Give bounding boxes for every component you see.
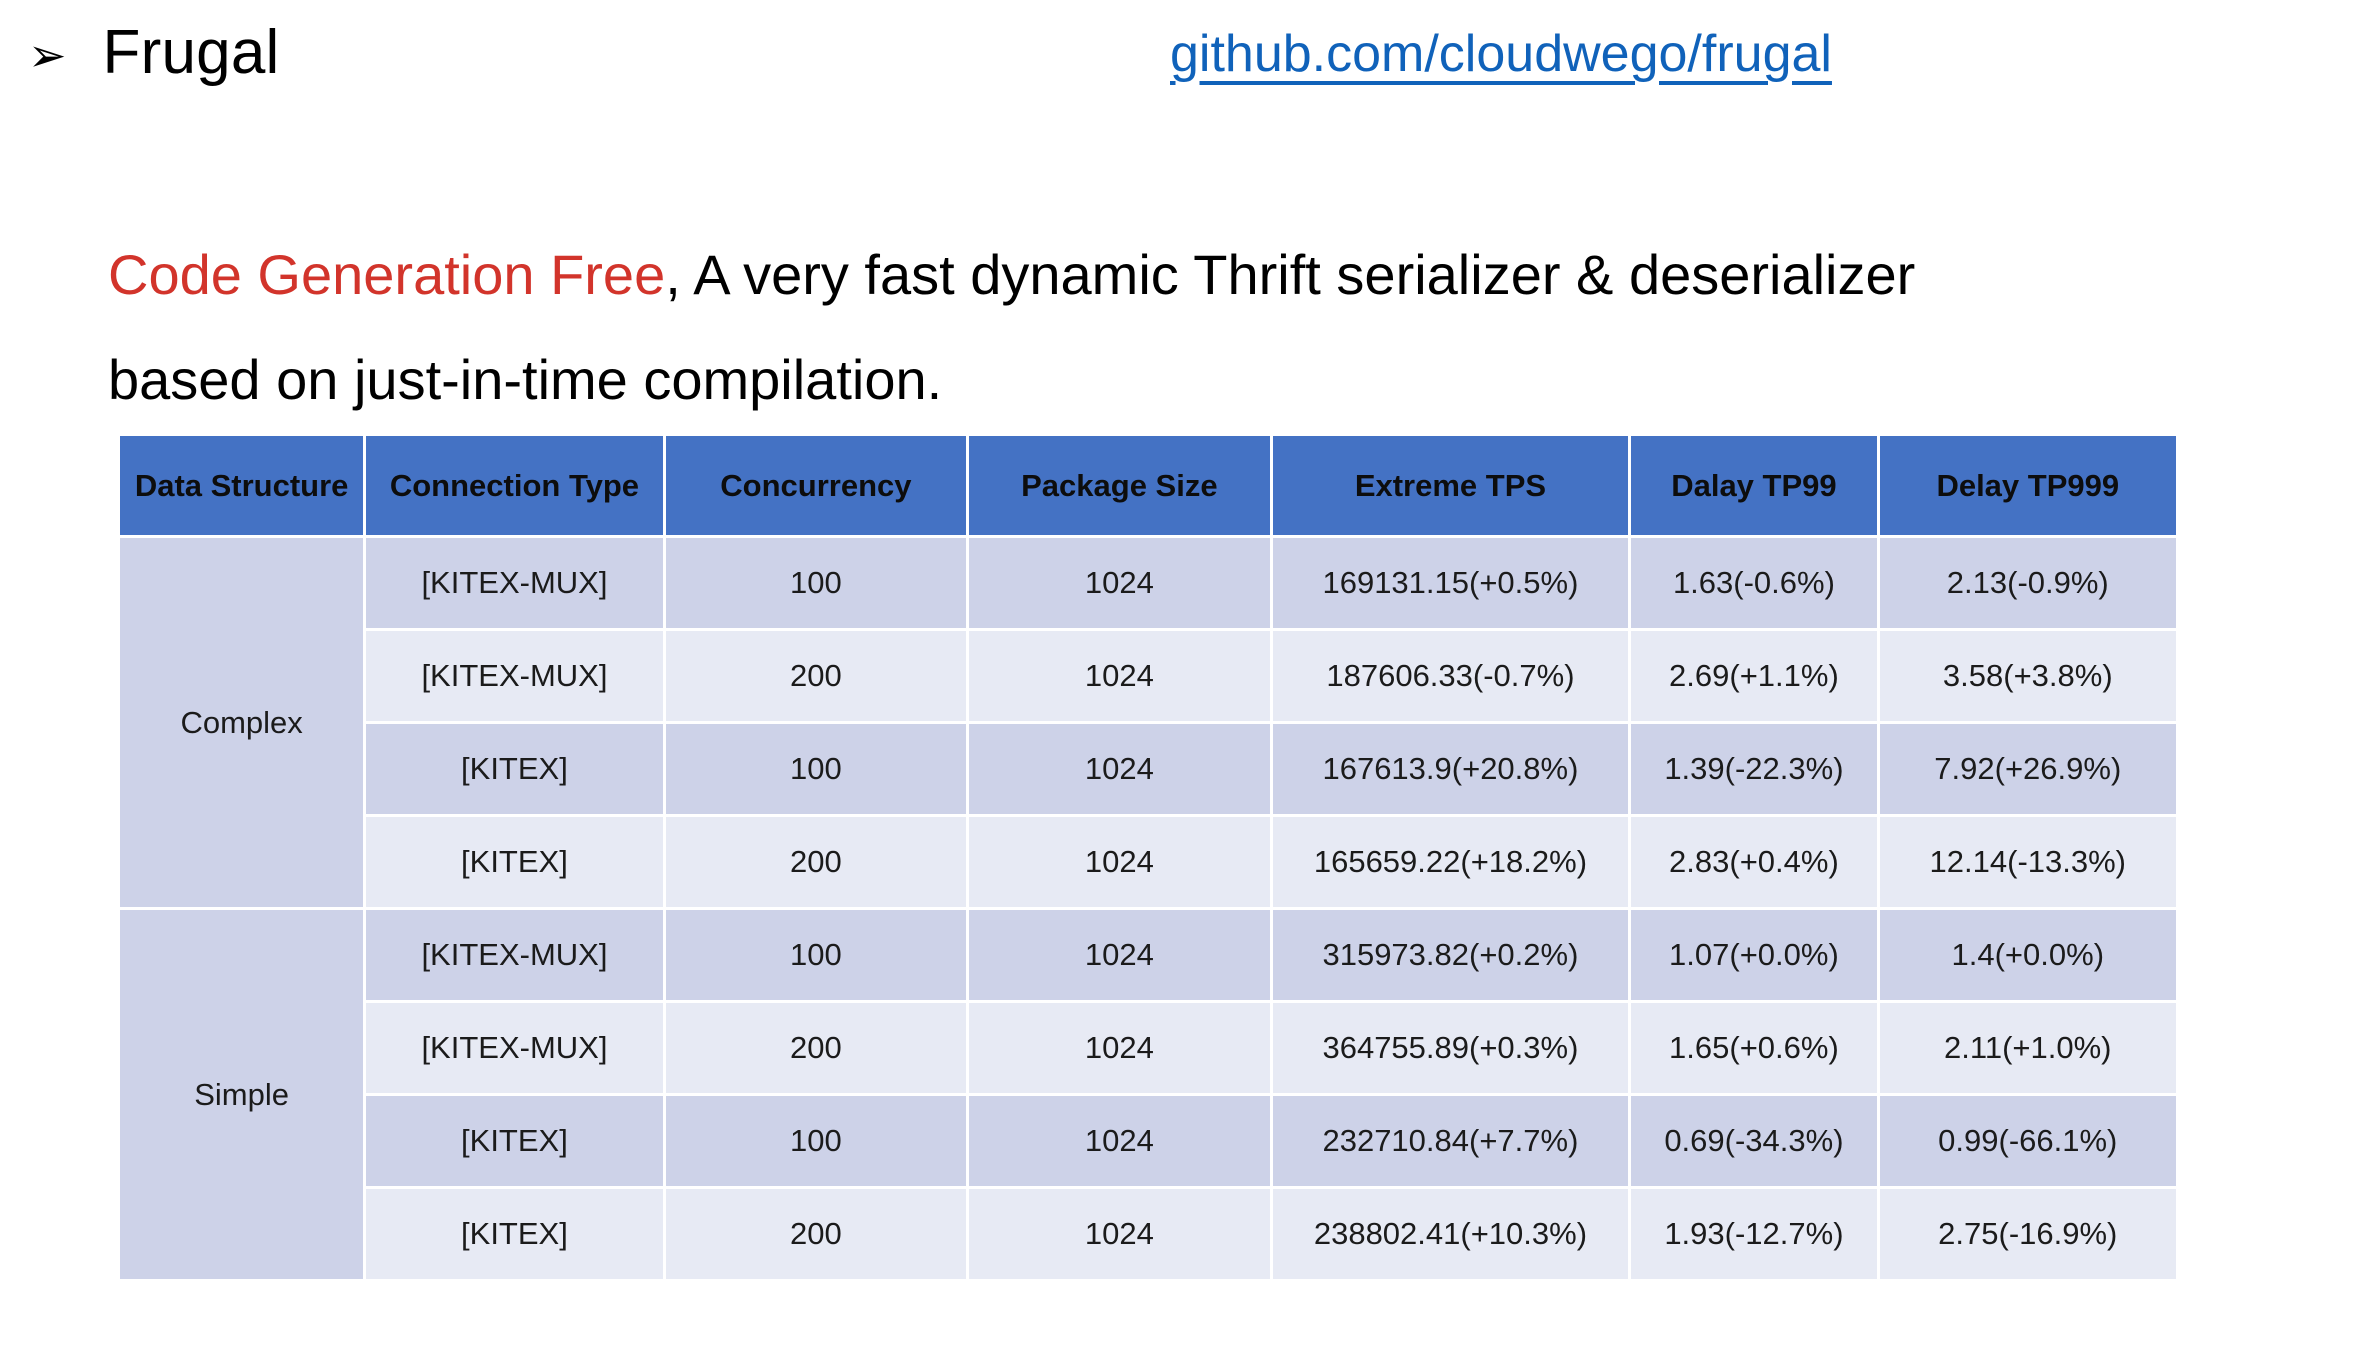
cell-delay-tp999: 3.58(+3.8%) [1880, 631, 2176, 721]
group-label-simple: Simple [120, 910, 363, 1279]
cell-delay-tp99: 1.63(-0.6%) [1631, 538, 1876, 628]
table-row: [KITEX] 100 1024 167613.9(+20.8%) 1.39(-… [120, 724, 2176, 814]
description-accent: Code Generation Free [108, 243, 665, 306]
table-row: Complex [KITEX-MUX] 100 1024 169131.15(+… [120, 538, 2176, 628]
table-row: [KITEX] 200 1024 165659.22(+18.2%) 2.83(… [120, 817, 2176, 907]
cell-package-size: 1024 [969, 538, 1269, 628]
cell-delay-tp999: 0.99(-66.1%) [1880, 1096, 2176, 1186]
slide-header: ➢ Frugal github.com/cloudwego/frugal [0, 0, 2360, 140]
cell-concurrency: 200 [666, 1189, 966, 1279]
cell-concurrency: 100 [666, 1096, 966, 1186]
cell-delay-tp99: 1.93(-12.7%) [1631, 1189, 1876, 1279]
cell-delay-tp99: 0.69(-34.3%) [1631, 1096, 1876, 1186]
table-row: [KITEX] 100 1024 232710.84(+7.7%) 0.69(-… [120, 1096, 2176, 1186]
cell-connection-type: [KITEX-MUX] [366, 631, 662, 721]
arrow-bullet-icon: ➢ [28, 32, 67, 78]
column-header-concurrency: Concurrency [666, 436, 966, 535]
column-header-data-structure: Data Structure [120, 436, 363, 535]
table-row: [KITEX-MUX] 200 1024 364755.89(+0.3%) 1.… [120, 1003, 2176, 1093]
repo-link[interactable]: github.com/cloudwego/frugal [1170, 28, 1832, 80]
table-row: [KITEX] 200 1024 238802.41(+10.3%) 1.93(… [120, 1189, 2176, 1279]
cell-delay-tp999: 2.75(-16.9%) [1880, 1189, 2176, 1279]
cell-concurrency: 200 [666, 1003, 966, 1093]
table-row: Simple [KITEX-MUX] 100 1024 315973.82(+0… [120, 910, 2176, 1000]
cell-delay-tp999: 1.4(+0.0%) [1880, 910, 2176, 1000]
cell-extreme-tps: 167613.9(+20.8%) [1273, 724, 1629, 814]
table-row: [KITEX-MUX] 200 1024 187606.33(-0.7%) 2.… [120, 631, 2176, 721]
table-header: Data Structure Connection Type Concurren… [120, 436, 2176, 535]
group-label-complex: Complex [120, 538, 363, 907]
cell-package-size: 1024 [969, 1189, 1269, 1279]
cell-delay-tp999: 7.92(+26.9%) [1880, 724, 2176, 814]
benchmark-table-container: Data Structure Connection Type Concurren… [120, 436, 2182, 1279]
column-header-connection-type: Connection Type [366, 436, 662, 535]
description-paragraph: Code Generation Free, A very fast dynami… [108, 222, 2008, 432]
cell-package-size: 1024 [969, 1096, 1269, 1186]
cell-extreme-tps: 315973.82(+0.2%) [1273, 910, 1629, 1000]
cell-delay-tp99: 1.39(-22.3%) [1631, 724, 1876, 814]
cell-extreme-tps: 169131.15(+0.5%) [1273, 538, 1629, 628]
cell-connection-type: [KITEX-MUX] [366, 538, 662, 628]
cell-extreme-tps: 165659.22(+18.2%) [1273, 817, 1629, 907]
column-header-package-size: Package Size [969, 436, 1269, 535]
cell-delay-tp999: 2.11(+1.0%) [1880, 1003, 2176, 1093]
cell-concurrency: 100 [666, 910, 966, 1000]
cell-connection-type: [KITEX] [366, 817, 662, 907]
cell-package-size: 1024 [969, 724, 1269, 814]
cell-extreme-tps: 238802.41(+10.3%) [1273, 1189, 1629, 1279]
benchmark-table: Data Structure Connection Type Concurren… [117, 433, 2179, 1282]
cell-concurrency: 100 [666, 724, 966, 814]
cell-extreme-tps: 232710.84(+7.7%) [1273, 1096, 1629, 1186]
cell-concurrency: 100 [666, 538, 966, 628]
cell-concurrency: 200 [666, 631, 966, 721]
cell-extreme-tps: 364755.89(+0.3%) [1273, 1003, 1629, 1093]
cell-delay-tp99: 1.07(+0.0%) [1631, 910, 1876, 1000]
column-header-delay-tp99: Dalay TP99 [1631, 436, 1876, 535]
cell-connection-type: [KITEX] [366, 724, 662, 814]
cell-package-size: 1024 [969, 910, 1269, 1000]
table-header-row: Data Structure Connection Type Concurren… [120, 436, 2176, 535]
cell-delay-tp99: 1.65(+0.6%) [1631, 1003, 1876, 1093]
cell-connection-type: [KITEX] [366, 1096, 662, 1186]
cell-connection-type: [KITEX-MUX] [366, 1003, 662, 1093]
page-title: Frugal [103, 22, 280, 84]
cell-delay-tp999: 12.14(-13.3%) [1880, 817, 2176, 907]
cell-package-size: 1024 [969, 631, 1269, 721]
cell-extreme-tps: 187606.33(-0.7%) [1273, 631, 1629, 721]
table-body: Complex [KITEX-MUX] 100 1024 169131.15(+… [120, 538, 2176, 1279]
cell-package-size: 1024 [969, 817, 1269, 907]
cell-connection-type: [KITEX-MUX] [366, 910, 662, 1000]
cell-connection-type: [KITEX] [366, 1189, 662, 1279]
column-header-delay-tp999: Delay TP999 [1880, 436, 2176, 535]
cell-delay-tp99: 2.83(+0.4%) [1631, 817, 1876, 907]
cell-delay-tp999: 2.13(-0.9%) [1880, 538, 2176, 628]
cell-delay-tp99: 2.69(+1.1%) [1631, 631, 1876, 721]
column-header-extreme-tps: Extreme TPS [1273, 436, 1629, 535]
cell-concurrency: 200 [666, 817, 966, 907]
cell-package-size: 1024 [969, 1003, 1269, 1093]
bullet-heading: ➢ Frugal [28, 22, 279, 84]
